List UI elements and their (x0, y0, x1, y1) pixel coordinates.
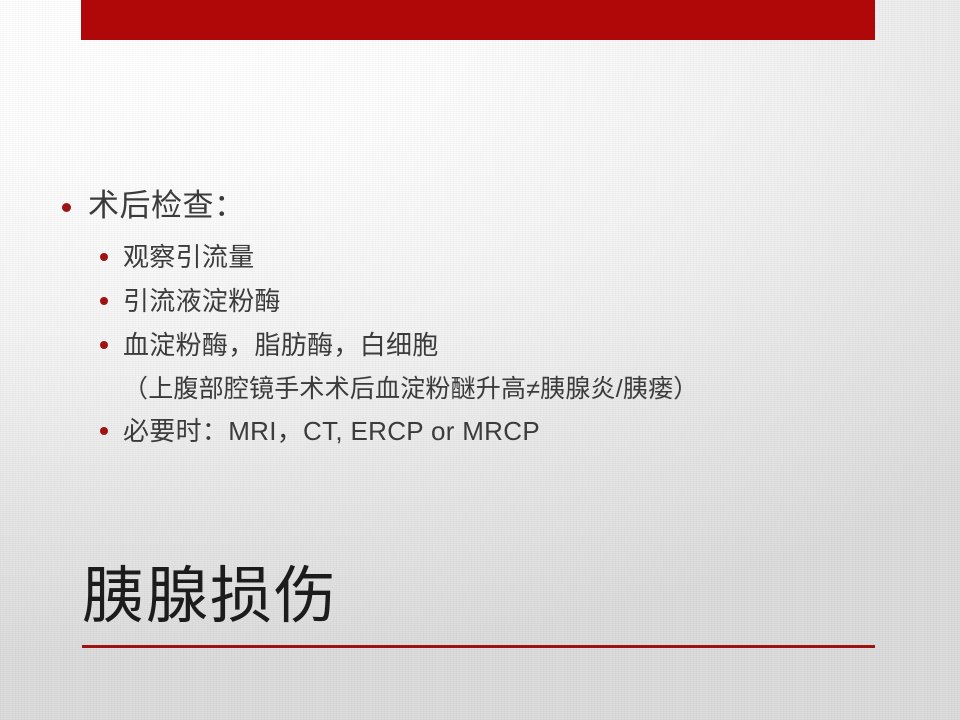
bullet-level2-label: 血淀粉酶，脂肪酶，白细胞 (123, 326, 439, 364)
bullet-dot-icon (100, 297, 108, 305)
bullet-dot-icon (100, 253, 108, 261)
page-title: 胰腺损伤 (82, 555, 875, 639)
bullet-item-level1: 术后检查： (62, 186, 246, 226)
slide-canvas: 术后检查： 观察引流量 引流液淀粉酶 血淀粉酶，脂肪酶，白细胞 （上腹部腔镜手术… (0, 0, 960, 720)
title-underline-rule (82, 645, 875, 648)
bullet-dot-icon (100, 427, 108, 435)
bullet-item-level2: 引流液淀粉酶 (100, 282, 698, 320)
bullet-continuation-label: （上腹部腔镜手术术后血淀粉醚升高≠胰腺炎/胰瘘） (123, 370, 698, 408)
slide-title-block: 胰腺损伤 (82, 555, 875, 648)
bullet-item-level2: 血淀粉酶，脂肪酶，白细胞 (100, 326, 698, 364)
bullet-item-level2: 必要时：MRI，CT, ERCP or MRCP (100, 412, 698, 450)
top-red-banner (81, 0, 875, 40)
bullet-dot-icon (100, 341, 108, 349)
bullet-dot-icon (62, 203, 71, 212)
bullet-level1-label: 术后检查： (88, 186, 246, 226)
bullet-level2-label: 必要时：MRI，CT, ERCP or MRCP (123, 412, 540, 450)
bullet-item-level2: 观察引流量 (100, 238, 698, 276)
bullet-level2-label: 引流液淀粉酶 (123, 282, 281, 320)
bullet-level2-label: 观察引流量 (123, 238, 255, 276)
bullet-continuation-line: （上腹部腔镜手术术后血淀粉醚升高≠胰腺炎/胰瘘） (100, 370, 698, 408)
bullet-list-level2: 观察引流量 引流液淀粉酶 血淀粉酶，脂肪酶，白细胞 （上腹部腔镜手术术后血淀粉醚… (100, 238, 698, 456)
